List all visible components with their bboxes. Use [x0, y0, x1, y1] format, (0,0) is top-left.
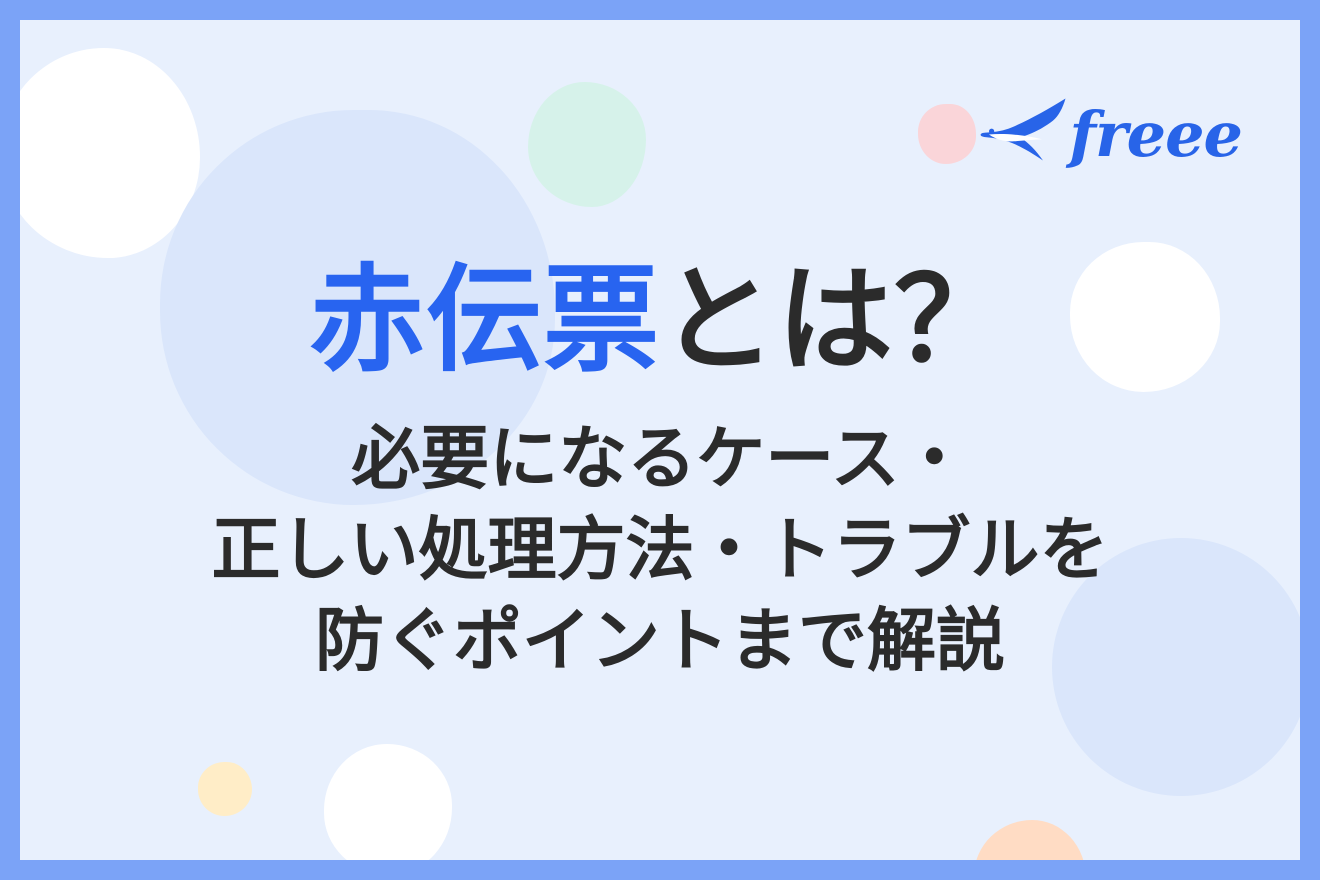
subtitle-line-2: 正しい処理方法・トラブルを: [20, 504, 1300, 595]
blob-mint-top-icon: [528, 82, 646, 207]
freee-swallow-bird-icon: [977, 96, 1069, 174]
freee-wordmark: freee: [1069, 104, 1242, 166]
page-subtitle: 必要になるケース・ 正しい処理方法・トラブルを 防ぐポイントまで解説: [20, 413, 1300, 686]
subtitle-line-3: 防ぐポイントまで解説: [20, 595, 1300, 686]
blob-pink-top-right-icon: [918, 104, 976, 164]
blob-white-top-left-icon: [20, 48, 200, 258]
banner-inner-canvas: freee 赤伝票とは？ 必要になるケース・ 正しい処理方法・トラブルを 防ぐポ…: [20, 20, 1300, 860]
page-title-accent: 赤伝票: [309, 255, 660, 385]
blob-peach-bottom-right-icon: [974, 820, 1086, 860]
blob-cream-bottom-left-icon: [198, 762, 252, 816]
blob-white-bottom-center-icon: [324, 744, 452, 860]
page-title-rest: とは？: [660, 255, 1011, 385]
banner-text-block: 赤伝票とは？ 必要になるケース・ 正しい処理方法・トラブルを 防ぐポイントまで解…: [20, 258, 1300, 687]
freee-logo: freee: [977, 96, 1242, 174]
article-header-banner: freee 赤伝票とは？ 必要になるケース・ 正しい処理方法・トラブルを 防ぐポ…: [0, 0, 1320, 880]
subtitle-line-1: 必要になるケース・: [20, 413, 1300, 504]
page-title: 赤伝票とは？: [20, 258, 1300, 383]
